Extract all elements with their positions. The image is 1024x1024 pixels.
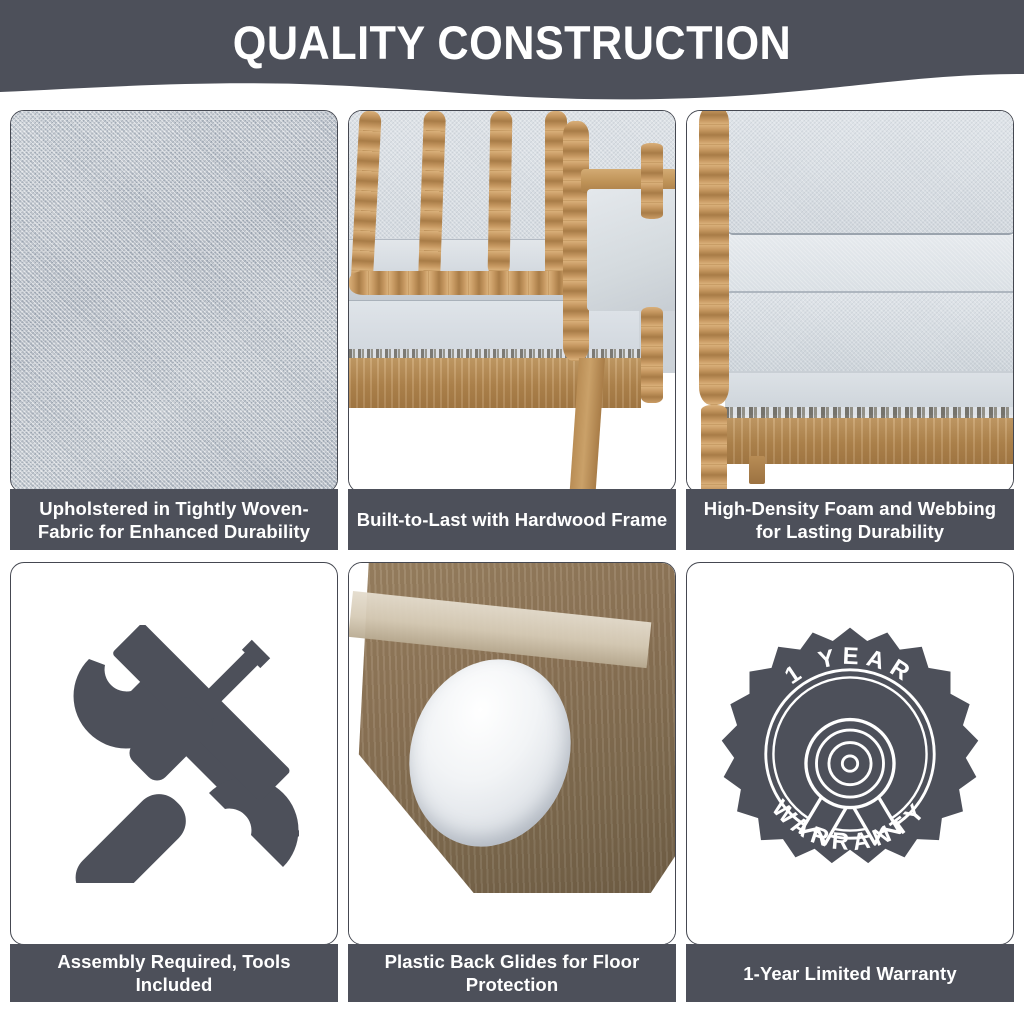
spindle-chair-frame-photo [349, 111, 675, 492]
media-frame-fabric [10, 110, 338, 493]
caption-bar-warranty: 1-Year Limited Warranty [686, 944, 1014, 1002]
media-frame-warranty: 1 YEAR WARRANTY [686, 562, 1014, 945]
page-title: QUALITY CONSTRUCTION [41, 17, 983, 69]
caption-text: High-Density Foam and Webbing for Lastin… [694, 497, 1006, 543]
caption-text: Built-to-Last with Hardwood Frame [357, 508, 668, 531]
plastic-glide-photo [349, 563, 675, 944]
header-banner: QUALITY CONSTRUCTION [0, 0, 1024, 104]
feature-card-assembly: Assembly Required, Tools Included [10, 562, 338, 1002]
caption-bar-foam: High-Density Foam and Webbing for Lastin… [686, 489, 1014, 550]
feature-card-hardwood-frame: Built-to-Last with Hardwood Frame [348, 110, 676, 550]
media-frame-assembly [10, 562, 338, 945]
caption-text: 1-Year Limited Warranty [743, 962, 956, 985]
feature-card-fabric: Upholstered in Tightly Woven-Fabric for … [10, 110, 338, 550]
feature-card-glides: Plastic Back Glides for Floor Protection [348, 562, 676, 1002]
feature-card-warranty: 1 YEAR WARRANTY 1-Year Limited Warranty [686, 562, 1014, 1002]
cushion-closeup-photo [687, 111, 1013, 492]
feature-grid: Upholstered in Tightly Woven-Fabric for … [10, 110, 1014, 1010]
wrench-screwdriver-icon [49, 625, 299, 883]
woven-fabric-swatch-photo [11, 111, 337, 492]
caption-bar-glides: Plastic Back Glides for Floor Protection [348, 944, 676, 1002]
caption-text: Plastic Back Glides for Floor Protection [356, 950, 668, 996]
media-frame-hardwood [348, 110, 676, 493]
caption-bar-assembly: Assembly Required, Tools Included [10, 944, 338, 1002]
media-frame-glides [348, 562, 676, 945]
caption-bar-fabric: Upholstered in Tightly Woven-Fabric for … [10, 489, 338, 550]
infographic-page: QUALITY CONSTRUCTION Upholstered in Tigh… [0, 0, 1024, 1024]
warranty-seal-icon: 1 YEAR WARRANTY [716, 616, 984, 892]
caption-text: Assembly Required, Tools Included [18, 950, 330, 996]
media-frame-foam [686, 110, 1014, 493]
feature-card-foam-webbing: High-Density Foam and Webbing for Lastin… [686, 110, 1014, 550]
caption-bar-hardwood: Built-to-Last with Hardwood Frame [348, 489, 676, 550]
caption-text: Upholstered in Tightly Woven-Fabric for … [18, 497, 330, 543]
